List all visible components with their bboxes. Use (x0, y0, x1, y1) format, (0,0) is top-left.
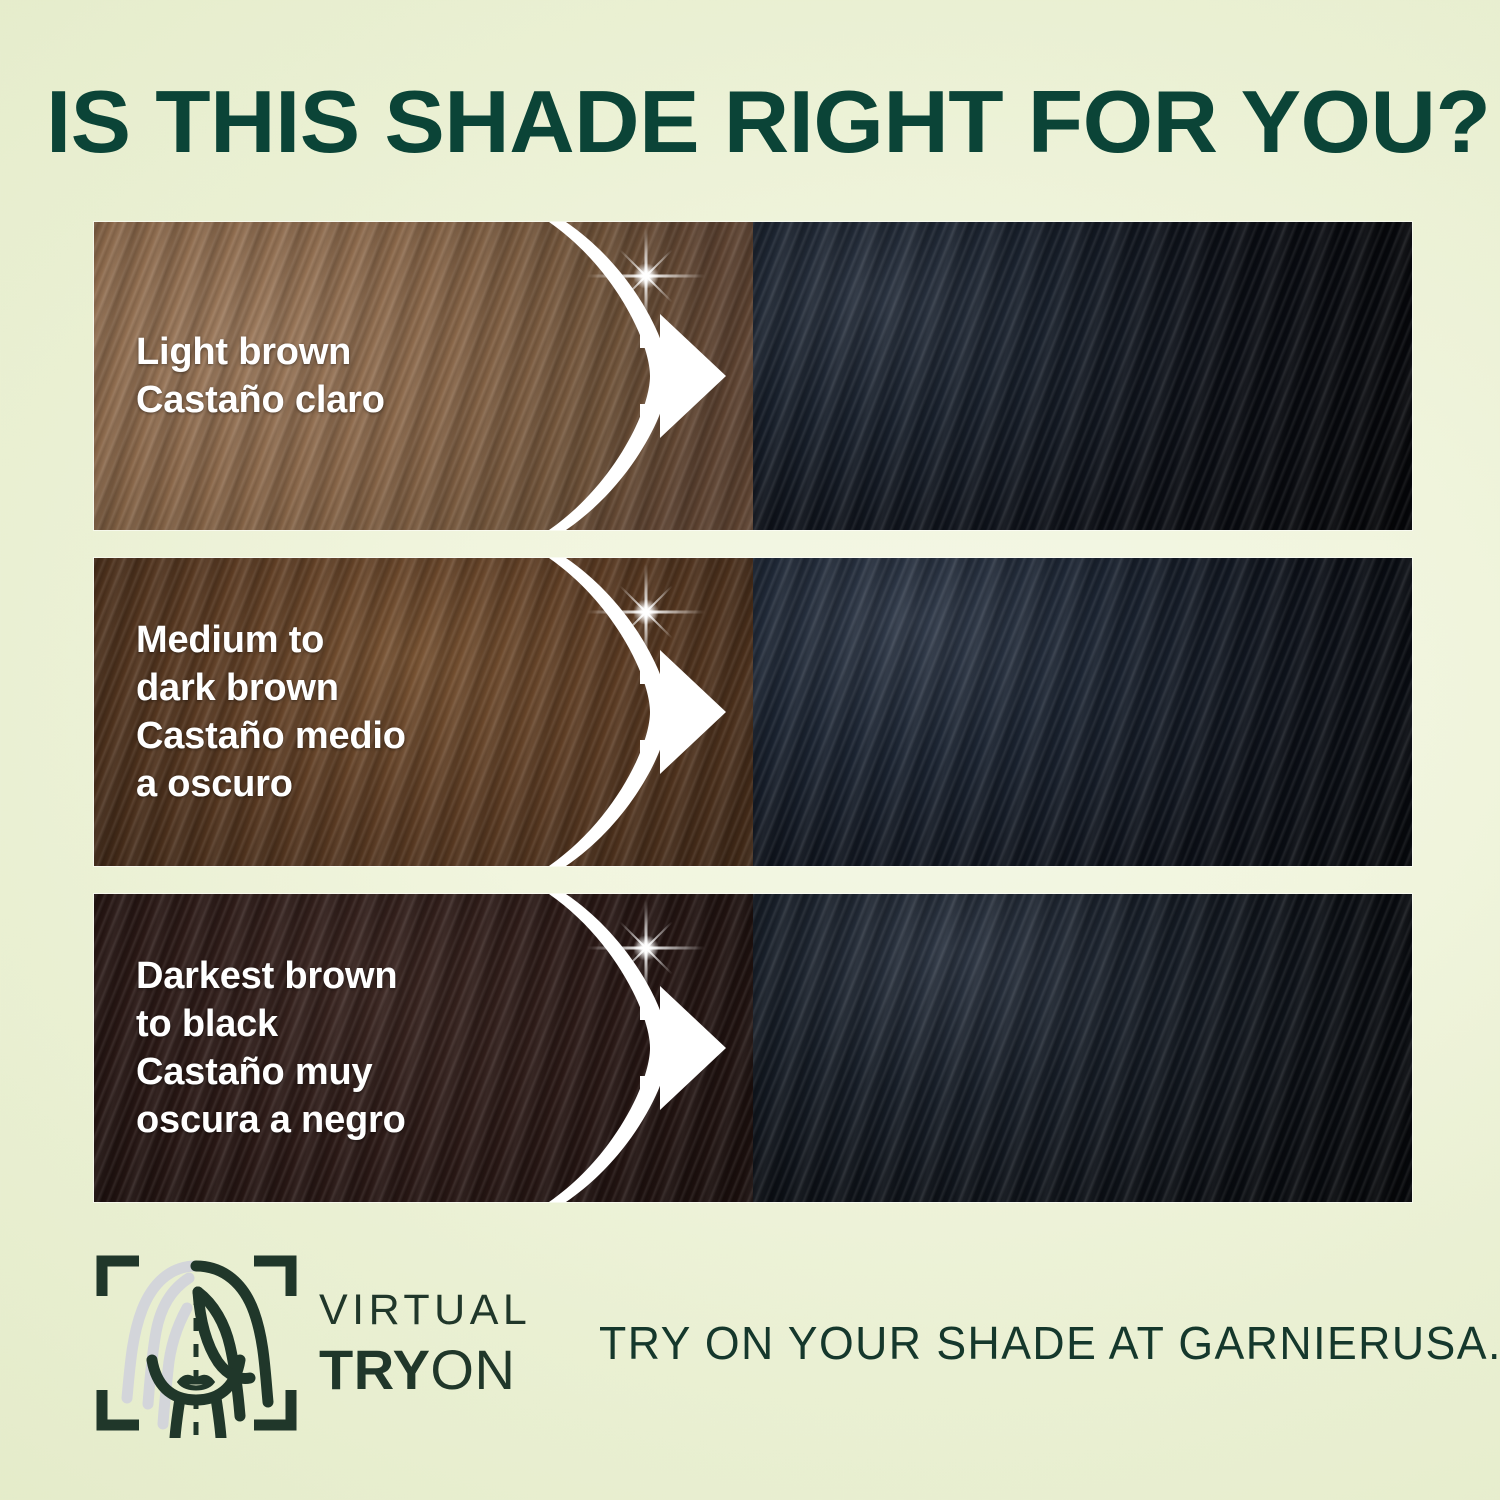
caption-line: Light brown (136, 328, 385, 376)
face-scan-icon (94, 1248, 299, 1438)
caption-line: Darkest brown (136, 952, 406, 1000)
after-hair-swatch-blue-black (753, 222, 1412, 530)
caption-line: a oscuro (136, 760, 406, 808)
caption-line: Medium to (136, 616, 406, 664)
after-hair-swatch-blue-black (753, 558, 1412, 866)
shade-panel-light-brown[interactable]: Light brown Castaño claro (94, 222, 1412, 530)
after-hair-swatch-blue-black (753, 894, 1412, 1202)
caption-line: Castaño claro (136, 376, 385, 424)
caption-line: dark brown (136, 664, 406, 712)
shade-panel-darkest-brown-to-black[interactable]: Darkest brown to black Castaño muy oscur… (94, 894, 1412, 1202)
logo-word-virtual: VIRTUAL (319, 1289, 531, 1332)
virtual-try-on-wordmark: VIRTUAL TRYON (319, 1289, 531, 1398)
caption-line: oscura a negro (136, 1096, 406, 1144)
caption-line: Castaño medio (136, 712, 406, 760)
logo-word-try: TRY (319, 1338, 430, 1401)
footer: VIRTUAL TRYON TRY ON YOUR SHADE AT GARNI… (94, 1238, 1424, 1448)
virtual-try-on-logo[interactable]: VIRTUAL TRYON (94, 1248, 531, 1438)
shade-panel-caption: Light brown Castaño claro (136, 222, 385, 530)
shade-panel-caption: Medium to dark brown Castaño medio a osc… (136, 558, 406, 866)
page-title: IS THIS SHADE RIGHT FOR YOU? (46, 74, 1500, 170)
caption-line: to black (136, 1000, 406, 1048)
logo-word-on: ON (430, 1338, 515, 1401)
shade-comparison-list: Light brown Castaño claro Medium to dark… (94, 222, 1412, 1230)
shade-panel-medium-dark-brown[interactable]: Medium to dark brown Castaño medio a osc… (94, 558, 1412, 866)
caption-line: Castaño muy (136, 1048, 406, 1096)
shade-panel-caption: Darkest brown to black Castaño muy oscur… (136, 894, 406, 1202)
try-on-tagline: TRY ON YOUR SHADE AT GARNIERUSA.COM (599, 1316, 1500, 1370)
